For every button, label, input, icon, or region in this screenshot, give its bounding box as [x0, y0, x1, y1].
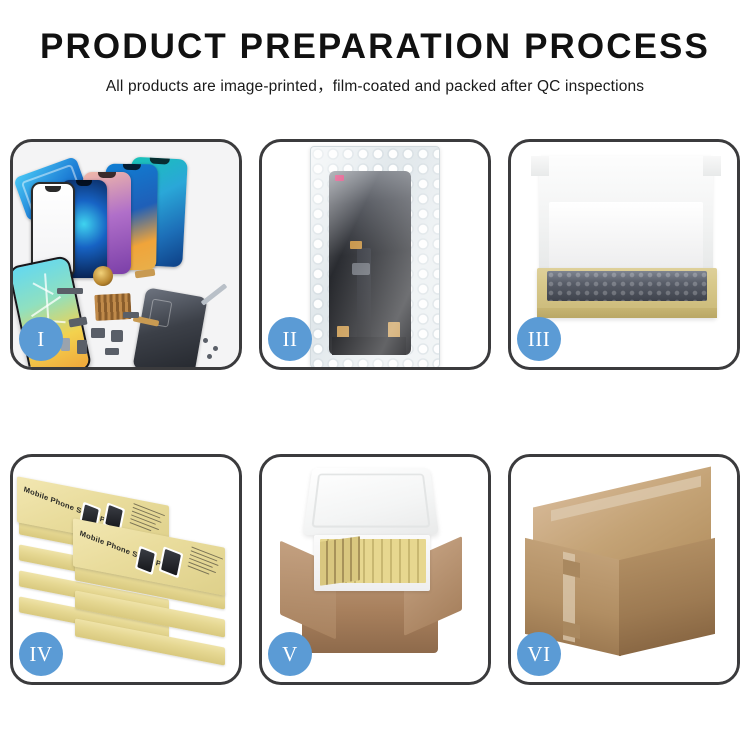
step-panel-6: VI [508, 454, 740, 685]
step-panel-2: II [259, 139, 491, 370]
step-badge-3: III [517, 317, 561, 361]
speaker-coil-icon [93, 266, 113, 286]
packed-retail-boxes-side [320, 536, 360, 586]
screw-icon [213, 346, 218, 351]
step-badge-4: IV [19, 632, 63, 676]
step-panel-3: III [508, 139, 740, 370]
foam-lid [539, 156, 713, 274]
foam-box-lid [303, 468, 439, 535]
step-panel-4: Mobile Phone Spare Parts Mobile Phone Sp… [10, 454, 242, 685]
process-steps-grid: I II [10, 139, 740, 685]
screw-icon [203, 338, 208, 343]
kraft-tray-box [537, 268, 717, 318]
phone-back-housing [132, 287, 207, 367]
bubble-wrap-bag [310, 146, 440, 367]
step-badge-2: II [268, 317, 312, 361]
small-part-icon [77, 340, 87, 354]
small-part-icon [111, 330, 123, 342]
small-part-icon [57, 288, 83, 294]
step-badge-6: VI [517, 632, 561, 676]
step-panel-5: V [259, 454, 491, 685]
page-subtitle: All products are image-printed，film-coat… [0, 76, 750, 98]
small-part-icon [123, 312, 139, 318]
step-badge-5: V [268, 632, 312, 676]
step-panel-1: I [10, 139, 242, 370]
small-part-icon [105, 348, 119, 355]
small-part-icon [91, 328, 105, 338]
step-badge-1: I [19, 317, 63, 361]
screw-icon [207, 354, 212, 359]
product-preparation-process-infographic: PRODUCT PREPARATION PROCESS All products… [0, 0, 750, 750]
page-title: PRODUCT PREPARATION PROCESS [0, 26, 750, 68]
bubble-wrapped-contents [547, 271, 707, 301]
header: PRODUCT PREPARATION PROCESS All products… [0, 26, 750, 98]
